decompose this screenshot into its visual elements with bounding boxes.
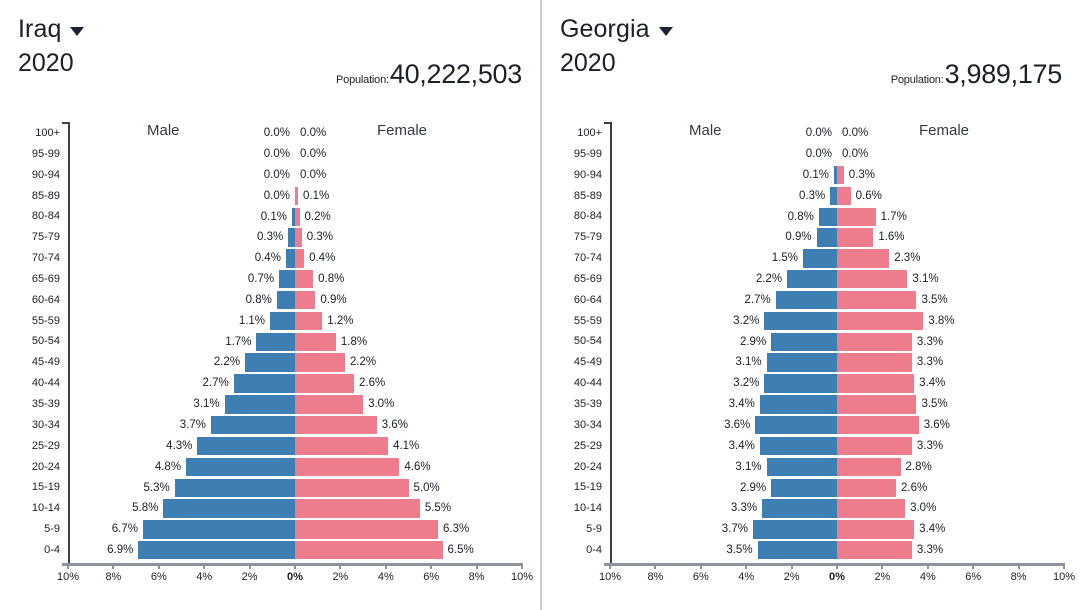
axis-tick <box>972 563 974 569</box>
male-bar[interactable] <box>245 353 295 371</box>
male-bar[interactable] <box>197 437 295 455</box>
table-row: 85-890.3%0.6% <box>610 186 1064 207</box>
male-bar[interactable] <box>830 187 837 205</box>
male-cell: 3.1% <box>610 353 837 371</box>
male-value-label: 3.7% <box>180 416 206 434</box>
axis-tick-label: 0% <box>287 571 303 583</box>
female-cell: 3.6% <box>295 416 522 434</box>
female-value-label: 0.0% <box>300 166 326 184</box>
axis-tick <box>881 563 883 569</box>
axis-tick <box>654 563 656 569</box>
table-row: 95-990.0%0.0% <box>68 144 522 165</box>
female-cell: 3.3% <box>837 437 1064 455</box>
male-value-label: 4.3% <box>166 437 192 455</box>
age-group-label: 90-94 <box>0 165 60 186</box>
male-value-label: 2.2% <box>756 270 782 288</box>
female-cell: 3.6% <box>837 416 1064 434</box>
age-group-label: 35-39 <box>542 394 602 415</box>
female-cell: 3.3% <box>837 353 1064 371</box>
female-cell: 5.5% <box>295 499 522 517</box>
table-row: 40-443.2%3.4% <box>610 373 1064 394</box>
male-value-label: 0.1% <box>261 208 287 226</box>
female-value-label: 1.7% <box>881 208 907 226</box>
age-group-label: 60-64 <box>0 290 60 311</box>
table-row: 45-492.2%2.2% <box>68 352 522 373</box>
country-name: Georgia <box>560 14 650 44</box>
male-bar[interactable] <box>175 479 295 497</box>
female-value-label: 2.6% <box>359 374 385 392</box>
male-bar[interactable] <box>787 270 837 288</box>
female-bar[interactable] <box>295 228 302 246</box>
female-value-label: 4.6% <box>404 458 430 476</box>
table-row: 100+0.0%0.0% <box>610 123 1064 144</box>
male-cell: 0.0% <box>610 145 837 163</box>
male-cell: 0.0% <box>68 166 295 184</box>
female-cell: 3.1% <box>837 270 1064 288</box>
female-value-label: 5.5% <box>425 499 451 517</box>
female-cell: 2.6% <box>295 374 522 392</box>
female-value-label: 3.3% <box>917 333 943 351</box>
table-row: 80-840.8%1.7% <box>610 206 1064 227</box>
table-row: 0-43.5%3.3% <box>610 540 1064 561</box>
male-value-label: 0.0% <box>264 124 290 142</box>
axis-tick-label: 4% <box>738 571 754 583</box>
female-cell: 3.4% <box>837 374 1064 392</box>
male-bar[interactable] <box>211 416 295 434</box>
female-value-label: 3.3% <box>917 353 943 371</box>
age-group-label: 95-99 <box>0 144 60 165</box>
table-row: 15-195.3%5.0% <box>68 477 522 498</box>
age-group-label: 10-14 <box>542 498 602 519</box>
table-row: 100+0.0%0.0% <box>68 123 522 144</box>
female-bar[interactable] <box>295 353 345 371</box>
male-cell: 0.8% <box>610 208 837 226</box>
male-cell: 0.1% <box>610 166 837 184</box>
female-cell: 3.5% <box>837 395 1064 413</box>
male-bar[interactable] <box>760 395 837 413</box>
axis-tick-label: 6% <box>693 571 709 583</box>
age-group-label: 100+ <box>0 123 60 144</box>
female-bar[interactable] <box>295 374 354 392</box>
country-selector[interactable]: Georgia <box>560 14 1062 44</box>
female-bar[interactable] <box>837 395 916 413</box>
male-cell: 2.2% <box>610 270 837 288</box>
axis-tick <box>700 563 702 569</box>
axis-tick-label: 2% <box>332 571 348 583</box>
axis-tick-label: 2% <box>242 571 258 583</box>
axis-tick-label: 8% <box>105 571 121 583</box>
axis-tick <box>609 563 611 569</box>
female-cell: 2.6% <box>837 479 1064 497</box>
male-bar[interactable] <box>279 270 295 288</box>
population-block: Population: 40,222,503 <box>336 59 522 90</box>
axis-tick <box>112 563 114 569</box>
table-row: 10-145.8%5.5% <box>68 498 522 519</box>
male-bar[interactable] <box>753 520 837 538</box>
female-value-label: 0.4% <box>309 249 335 267</box>
female-bar[interactable] <box>837 333 912 351</box>
age-group-label: 50-54 <box>542 331 602 352</box>
female-value-label: 3.4% <box>919 374 945 392</box>
age-group-label: 30-34 <box>0 415 60 436</box>
male-bar[interactable] <box>288 228 295 246</box>
table-row: 40-442.7%2.6% <box>68 373 522 394</box>
axis-tick-label: 2% <box>784 571 800 583</box>
male-value-label: 3.6% <box>724 416 750 434</box>
table-row: 15-192.9%2.6% <box>610 477 1064 498</box>
table-row: 95-990.0%0.0% <box>610 144 1064 165</box>
axis-tick <box>1018 563 1020 569</box>
female-bar[interactable] <box>837 499 905 517</box>
male-value-label: 0.0% <box>264 166 290 184</box>
male-bar[interactable] <box>803 249 837 267</box>
male-value-label: 3.1% <box>735 353 761 371</box>
axis-tick <box>339 563 341 569</box>
male-cell: 0.4% <box>68 249 295 267</box>
axis-tick <box>1063 563 1065 569</box>
female-bar[interactable] <box>837 353 912 371</box>
age-group-label: 80-84 <box>0 206 60 227</box>
female-value-label: 0.0% <box>300 145 326 163</box>
age-group-label: 45-49 <box>542 352 602 373</box>
male-cell: 0.9% <box>610 228 837 246</box>
female-bar[interactable] <box>295 416 377 434</box>
female-value-label: 0.3% <box>307 228 333 246</box>
female-value-label: 4.1% <box>393 437 419 455</box>
male-bar[interactable] <box>764 374 837 392</box>
female-value-label: 0.6% <box>856 187 882 205</box>
table-row: 50-542.9%3.3% <box>610 331 1064 352</box>
female-cell: 1.8% <box>295 333 522 351</box>
male-value-label: 1.7% <box>225 333 251 351</box>
female-bar[interactable] <box>295 249 304 267</box>
female-bar[interactable] <box>837 416 919 434</box>
female-bar[interactable] <box>295 479 409 497</box>
female-bar[interactable] <box>295 312 322 330</box>
age-group-label: 70-74 <box>542 248 602 269</box>
male-value-label: 0.0% <box>806 145 832 163</box>
age-group-label: 55-59 <box>542 311 602 332</box>
male-cell: 0.1% <box>68 208 295 226</box>
female-bar[interactable] <box>837 520 914 538</box>
table-row: 25-294.3%4.1% <box>68 436 522 457</box>
female-cell: 0.0% <box>295 124 522 142</box>
female-value-label: 3.6% <box>382 416 408 434</box>
table-row: 10-143.3%3.0% <box>610 498 1064 519</box>
table-row: 65-692.2%3.1% <box>610 269 1064 290</box>
male-value-label: 3.1% <box>735 458 761 476</box>
female-cell: 3.0% <box>295 395 522 413</box>
male-value-label: 1.1% <box>239 312 265 330</box>
table-row: 65-690.7%0.8% <box>68 269 522 290</box>
axis-tick-label: 10% <box>511 571 533 583</box>
axis-tick <box>249 563 251 569</box>
age-group-label: 85-89 <box>542 186 602 207</box>
male-cell: 3.7% <box>68 416 295 434</box>
female-bar[interactable] <box>295 520 438 538</box>
female-value-label: 2.6% <box>901 479 927 497</box>
population-label: Population: <box>336 74 389 86</box>
female-bar[interactable] <box>295 499 420 517</box>
male-cell: 6.9% <box>68 541 295 559</box>
table-row: 70-740.4%0.4% <box>68 248 522 269</box>
female-bar[interactable] <box>837 541 912 559</box>
axis-tick-label: 10% <box>1053 571 1075 583</box>
male-value-label: 0.4% <box>255 249 281 267</box>
female-bar[interactable] <box>837 228 873 246</box>
table-row: 80-840.1%0.2% <box>68 206 522 227</box>
female-cell: 2.8% <box>837 458 1064 476</box>
female-cell: 1.6% <box>837 228 1064 246</box>
female-cell: 0.0% <box>295 145 522 163</box>
chevron-down-icon[interactable] <box>70 27 84 36</box>
axis-tick-label: 8% <box>1011 571 1027 583</box>
female-value-label: 3.5% <box>921 395 947 413</box>
female-bar[interactable] <box>295 208 300 226</box>
axis-tick-label: 0% <box>829 571 845 583</box>
female-bar[interactable] <box>295 270 313 288</box>
table-row: 55-591.1%1.2% <box>68 311 522 332</box>
male-cell: 0.0% <box>68 145 295 163</box>
table-row: 90-940.0%0.0% <box>68 165 522 186</box>
country-name: Iraq <box>18 14 61 44</box>
male-bar[interactable] <box>767 353 837 371</box>
population-value: 40,222,503 <box>390 59 522 90</box>
male-bar[interactable] <box>760 437 837 455</box>
axis-tick-label: 4% <box>378 571 394 583</box>
male-bar[interactable] <box>817 228 837 246</box>
female-value-label: 3.6% <box>924 416 950 434</box>
female-cell: 6.3% <box>295 520 522 538</box>
female-cell: 3.3% <box>837 333 1064 351</box>
table-row: 75-790.9%1.6% <box>610 227 1064 248</box>
female-cell: 0.4% <box>295 249 522 267</box>
male-bar[interactable] <box>762 499 837 517</box>
female-bar[interactable] <box>837 291 916 309</box>
male-bar[interactable] <box>234 374 295 392</box>
table-row: 60-640.8%0.9% <box>68 290 522 311</box>
female-bar[interactable] <box>295 333 336 351</box>
male-bar[interactable] <box>138 541 295 559</box>
female-bar[interactable] <box>295 187 298 205</box>
male-value-label: 0.0% <box>806 124 832 142</box>
female-bar[interactable] <box>837 458 901 476</box>
male-bar[interactable] <box>767 458 837 476</box>
male-bar[interactable] <box>771 333 837 351</box>
male-value-label: 0.0% <box>264 187 290 205</box>
panel-iraq: Iraq 2020 Population: 40,222,503 Male Fe… <box>0 0 540 610</box>
female-bar[interactable] <box>837 187 851 205</box>
female-cell: 3.5% <box>837 291 1064 309</box>
female-value-label: 0.0% <box>300 124 326 142</box>
male-bar[interactable] <box>755 416 837 434</box>
male-value-label: 0.8% <box>788 208 814 226</box>
female-bar[interactable] <box>295 437 388 455</box>
male-bar[interactable] <box>225 395 295 413</box>
country-selector[interactable]: Iraq <box>18 14 522 44</box>
axis-tick-label: 8% <box>647 571 663 583</box>
female-cell: 0.1% <box>295 187 522 205</box>
axis-tick <box>385 563 387 569</box>
male-cell: 3.7% <box>610 520 837 538</box>
female-value-label: 2.8% <box>906 458 932 476</box>
age-group-label: 90-94 <box>542 165 602 186</box>
age-group-label: 75-79 <box>0 227 60 248</box>
female-bar[interactable] <box>295 291 315 309</box>
male-value-label: 3.4% <box>729 395 755 413</box>
bar-rows: 100+0.0%0.0%95-990.0%0.0%90-940.1%0.3%85… <box>610 123 1064 561</box>
population-pyramid-comparison: Iraq 2020 Population: 40,222,503 Male Fe… <box>0 0 1080 610</box>
axis-tick <box>745 563 747 569</box>
female-bar[interactable] <box>295 541 443 559</box>
table-row: 0-46.9%6.5% <box>68 540 522 561</box>
female-cell: 5.0% <box>295 479 522 497</box>
age-group-label: 95-99 <box>542 144 602 165</box>
male-value-label: 3.3% <box>731 499 757 517</box>
female-bar[interactable] <box>837 249 889 267</box>
male-value-label: 3.2% <box>733 374 759 392</box>
male-value-label: 0.3% <box>799 187 825 205</box>
female-value-label: 0.8% <box>318 270 344 288</box>
table-row: 30-343.7%3.6% <box>68 415 522 436</box>
female-cell: 2.2% <box>295 353 522 371</box>
female-bar[interactable] <box>295 395 363 413</box>
female-cell: 0.0% <box>837 124 1064 142</box>
male-bar[interactable] <box>163 499 295 517</box>
male-bar[interactable] <box>143 520 295 538</box>
pyramid-chart: Male Female 100+0.0%0.0%95-990.0%0.0%90-… <box>0 120 540 590</box>
female-bar[interactable] <box>837 479 896 497</box>
female-cell: 0.3% <box>837 166 1064 184</box>
axis-tick-label: 6% <box>423 571 439 583</box>
table-row: 85-890.0%0.1% <box>68 186 522 207</box>
female-cell: 3.3% <box>837 541 1064 559</box>
age-group-label: 60-64 <box>542 290 602 311</box>
male-bar[interactable] <box>758 541 837 559</box>
male-bar[interactable] <box>764 312 837 330</box>
male-cell: 3.5% <box>610 541 837 559</box>
male-value-label: 6.7% <box>112 520 138 538</box>
male-cell: 1.5% <box>610 249 837 267</box>
age-group-label: 0-4 <box>542 540 602 561</box>
age-group-label: 80-84 <box>542 206 602 227</box>
female-value-label: 6.5% <box>448 541 474 559</box>
male-bar[interactable] <box>286 249 295 267</box>
axis-tick <box>430 563 432 569</box>
age-group-label: 10-14 <box>0 498 60 519</box>
male-cell: 3.1% <box>610 458 837 476</box>
male-cell: 5.8% <box>68 499 295 517</box>
age-group-label: 5-9 <box>542 519 602 540</box>
age-group-label: 40-44 <box>0 373 60 394</box>
panel-header: Georgia 2020 Population: 3,989,175 <box>542 0 1080 120</box>
age-group-label: 35-39 <box>0 394 60 415</box>
male-cell: 2.9% <box>610 479 837 497</box>
female-value-label: 0.0% <box>842 124 868 142</box>
male-value-label: 4.8% <box>155 458 181 476</box>
age-group-label: 40-44 <box>542 373 602 394</box>
female-cell: 1.7% <box>837 208 1064 226</box>
age-group-label: 25-29 <box>0 436 60 457</box>
male-value-label: 0.1% <box>803 166 829 184</box>
x-axis-ticks: 10%8%6%4%2%0%2%4%6%8%10% <box>610 563 1064 589</box>
female-bar[interactable] <box>837 208 876 226</box>
age-group-label: 45-49 <box>0 352 60 373</box>
female-bar[interactable] <box>837 374 914 392</box>
table-row: 30-343.6%3.6% <box>610 415 1064 436</box>
axis-tick-label: 4% <box>920 571 936 583</box>
female-bar[interactable] <box>837 312 923 330</box>
male-value-label: 0.8% <box>246 291 272 309</box>
male-bar[interactable] <box>270 312 295 330</box>
female-cell: 0.0% <box>837 145 1064 163</box>
female-value-label: 1.8% <box>341 333 367 351</box>
male-bar[interactable] <box>771 479 837 497</box>
female-cell: 0.2% <box>295 208 522 226</box>
male-value-label: 2.9% <box>740 479 766 497</box>
age-group-label: 15-19 <box>542 477 602 498</box>
female-bar[interactable] <box>837 166 844 184</box>
female-value-label: 3.8% <box>928 312 954 330</box>
male-bar[interactable] <box>819 208 837 226</box>
age-group-label: 85-89 <box>0 186 60 207</box>
female-value-label: 1.2% <box>327 312 353 330</box>
female-bar[interactable] <box>295 458 399 476</box>
male-value-label: 2.2% <box>214 353 240 371</box>
table-row: 75-790.3%0.3% <box>68 227 522 248</box>
male-value-label: 5.3% <box>143 479 169 497</box>
population-block: Population: 3,989,175 <box>891 59 1062 90</box>
male-value-label: 1.5% <box>772 249 798 267</box>
axis-tick-label: 10% <box>599 571 621 583</box>
female-bar[interactable] <box>837 437 912 455</box>
female-cell: 4.1% <box>295 437 522 455</box>
male-bar[interactable] <box>776 291 837 309</box>
axis-tick <box>158 563 160 569</box>
axis-tick-label: 6% <box>151 571 167 583</box>
male-value-label: 2.9% <box>740 333 766 351</box>
female-cell: 0.8% <box>295 270 522 288</box>
table-row: 35-393.4%3.5% <box>610 394 1064 415</box>
female-cell: 4.6% <box>295 458 522 476</box>
male-bar[interactable] <box>186 458 295 476</box>
axis-tick <box>521 563 523 569</box>
male-cell: 0.0% <box>68 187 295 205</box>
male-value-label: 0.3% <box>257 228 283 246</box>
male-cell: 3.4% <box>610 395 837 413</box>
male-cell: 0.8% <box>68 291 295 309</box>
table-row: 90-940.1%0.3% <box>610 165 1064 186</box>
female-value-label: 3.3% <box>917 437 943 455</box>
male-value-label: 2.7% <box>203 374 229 392</box>
male-cell: 3.2% <box>610 312 837 330</box>
female-value-label: 0.3% <box>849 166 875 184</box>
male-cell: 4.3% <box>68 437 295 455</box>
axis-tick <box>476 563 478 569</box>
female-value-label: 3.5% <box>921 291 947 309</box>
female-bar[interactable] <box>837 270 907 288</box>
female-cell: 0.9% <box>295 291 522 309</box>
plot-area: 100+0.0%0.0%95-990.0%0.0%90-940.0%0.0%85… <box>68 120 522 563</box>
age-group-label: 15-19 <box>0 477 60 498</box>
male-bar[interactable] <box>256 333 295 351</box>
chevron-down-icon[interactable] <box>659 27 673 36</box>
male-cell: 3.1% <box>68 395 295 413</box>
male-value-label: 0.7% <box>248 270 274 288</box>
axis-tick <box>791 563 793 569</box>
male-bar[interactable] <box>277 291 295 309</box>
female-value-label: 2.3% <box>894 249 920 267</box>
